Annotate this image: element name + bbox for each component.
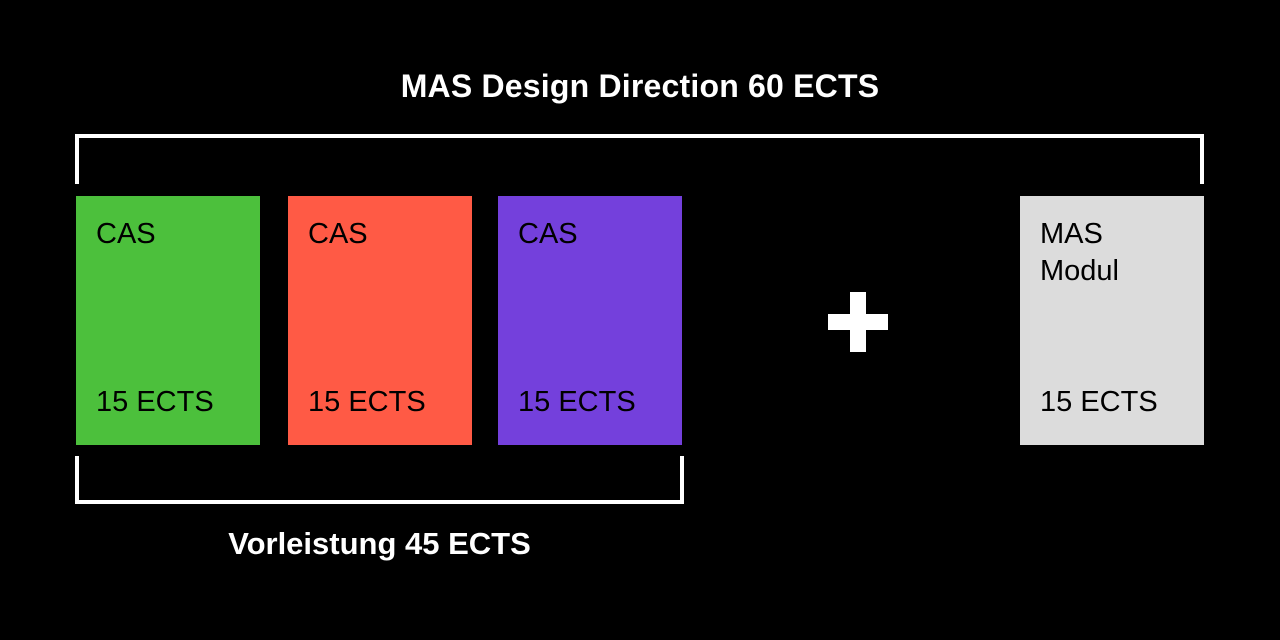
plus-icon-vertical-bar (850, 292, 866, 352)
plus-icon (828, 292, 888, 352)
module-credits: 15 ECTS (96, 388, 214, 417)
module-box-cas-3[interactable]: CAS 15 ECTS (498, 196, 682, 445)
module-box-cas-1[interactable]: CAS 15 ECTS (76, 196, 260, 445)
module-box-mas-modul[interactable]: MAS Modul 15 ECTS (1020, 196, 1204, 445)
diagram-canvas: MAS Design Direction 60 ECTS Vorleistung… (0, 0, 1280, 640)
module-title: CAS (96, 216, 260, 253)
module-row: CAS 15 ECTS CAS 15 ECTS CAS 15 ECTS MAS … (0, 0, 1280, 640)
module-title: CAS (518, 216, 682, 253)
module-title: CAS (308, 216, 472, 253)
module-box-cas-2[interactable]: CAS 15 ECTS (288, 196, 472, 445)
module-credits: 15 ECTS (518, 388, 636, 417)
module-title: MAS Modul (1040, 216, 1204, 290)
module-credits: 15 ECTS (308, 388, 426, 417)
module-credits: 15 ECTS (1040, 388, 1158, 417)
